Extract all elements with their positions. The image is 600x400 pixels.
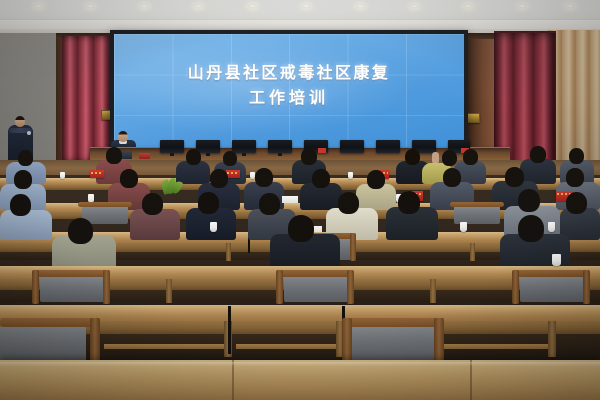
- chair-post: [32, 270, 39, 304]
- chair-frame: [512, 270, 590, 277]
- attendee-head: [463, 149, 478, 165]
- podium-monitor: [340, 140, 364, 153]
- ceiling-downlight: [86, 4, 95, 8]
- desk-seam: [470, 360, 472, 400]
- podium-monitor: [160, 140, 184, 153]
- podium-monitor-stand: [278, 153, 282, 156]
- podium-monitor-stand: [242, 153, 246, 156]
- desk-cable: [228, 306, 231, 354]
- attendee-head: [505, 167, 524, 187]
- attendee-head: [530, 146, 546, 163]
- chair-frame-foreground: [342, 318, 444, 327]
- desk-leg: [548, 321, 556, 357]
- attendee-head: [142, 193, 163, 215]
- screen-title-line2: 工作培训: [114, 89, 464, 107]
- attendee-head: [566, 168, 584, 187]
- name-placard: [90, 170, 104, 178]
- ceiling-downlight: [248, 4, 257, 8]
- attendee-head: [10, 194, 31, 216]
- chair-back: [520, 276, 584, 302]
- chair-post: [350, 233, 356, 261]
- attendee-head: [288, 215, 314, 242]
- screen-title-line1: 山丹县社区戒毒社区康复: [114, 64, 464, 82]
- desk-grain-highlight: [0, 362, 600, 366]
- attendee-head: [518, 189, 540, 212]
- led-video-wall: 山丹县社区戒毒社区康复 工作培训: [114, 34, 464, 156]
- chair-post: [103, 270, 110, 304]
- podium-monitor-stand: [170, 153, 174, 156]
- chair-post: [512, 270, 519, 304]
- chair-back: [40, 276, 104, 302]
- desk-shelf-board: [236, 344, 336, 349]
- podium-speaker-head: [118, 131, 128, 142]
- chair-post: [347, 270, 354, 304]
- podium-red-folder: [139, 153, 150, 159]
- attendee-head: [398, 191, 420, 214]
- attendee-head: [14, 170, 32, 189]
- desk-row-foreground: [0, 360, 600, 400]
- podium-monitor-stand: [206, 153, 210, 156]
- attendee-head: [186, 149, 201, 165]
- conference-hall-photo: 山丹县社区戒毒社区康复 工作培训: [0, 0, 600, 400]
- attendee-head: [120, 169, 138, 188]
- name-placard: [226, 170, 240, 178]
- desk-seam: [232, 360, 234, 400]
- attendee-head: [367, 170, 385, 189]
- desk-leg: [470, 243, 475, 261]
- chair-frame: [32, 270, 110, 277]
- attendee-head: [198, 192, 219, 214]
- attendee-head: [223, 151, 237, 166]
- attendee-head: [405, 149, 420, 165]
- chair-frame: [450, 202, 504, 207]
- podium-red-marker: [318, 148, 326, 153]
- ceiling-downlight: [194, 4, 203, 8]
- chair-back-foreground: [0, 326, 86, 364]
- paper-cup: [348, 172, 353, 179]
- attendee-head: [18, 150, 33, 166]
- paper-cup: [60, 172, 65, 179]
- ceiling-downlight: [518, 4, 527, 8]
- ceiling-downlight: [464, 4, 473, 8]
- ceiling-downlight: [410, 4, 419, 8]
- attendee-head: [566, 192, 587, 214]
- ceiling-downlight: [566, 4, 575, 8]
- chair-post: [90, 318, 100, 366]
- screen-title-block: 山丹县社区戒毒社区康复 工作培训: [114, 64, 464, 108]
- chair-post: [434, 318, 444, 366]
- attendee-head: [569, 148, 584, 164]
- document-sheet: [282, 196, 298, 203]
- desk-leg: [430, 279, 436, 303]
- attendee-head: [210, 169, 228, 188]
- standing-officer-head: [15, 116, 25, 127]
- attendee-head: [68, 218, 93, 244]
- desk-leg: [226, 243, 231, 261]
- chair-post: [342, 318, 352, 366]
- officer-badge-icon: [27, 131, 31, 135]
- chair-post: [583, 270, 590, 304]
- paper-cup: [552, 254, 561, 266]
- attendee-head: [259, 193, 280, 215]
- attendee-head: [301, 148, 317, 165]
- attendee-head: [312, 169, 330, 188]
- desk-shelf-board: [104, 344, 224, 349]
- desk-shelf-board: [444, 344, 554, 349]
- paper-cup: [460, 222, 467, 232]
- ceiling-downlight: [302, 4, 311, 8]
- attendee-head: [443, 168, 461, 187]
- attendee-head: [442, 150, 457, 166]
- paper-cup: [210, 222, 217, 232]
- stage-curtain-left: [62, 36, 114, 162]
- ceiling-downlight: [356, 4, 365, 8]
- attendee-head: [338, 192, 359, 214]
- podium-monitor: [196, 140, 220, 153]
- chair-back-foreground: [350, 326, 436, 364]
- podium-monitor: [268, 140, 292, 153]
- chair-frame: [276, 270, 354, 277]
- chair-post: [276, 270, 283, 304]
- potted-plant: [160, 178, 182, 200]
- paper-cup: [548, 222, 555, 232]
- chair-frame: [78, 202, 132, 207]
- chair-back: [284, 276, 348, 302]
- desk-leg: [166, 279, 172, 303]
- podium-monitor: [376, 140, 400, 153]
- attendee-head: [255, 168, 273, 187]
- ceiling-downlight: [34, 4, 43, 8]
- ceiling-downlight: [140, 4, 149, 8]
- chair-frame-foreground: [0, 318, 100, 327]
- attendee-head: [518, 215, 544, 242]
- podium-monitor: [232, 140, 256, 153]
- attendee-head: [106, 147, 122, 164]
